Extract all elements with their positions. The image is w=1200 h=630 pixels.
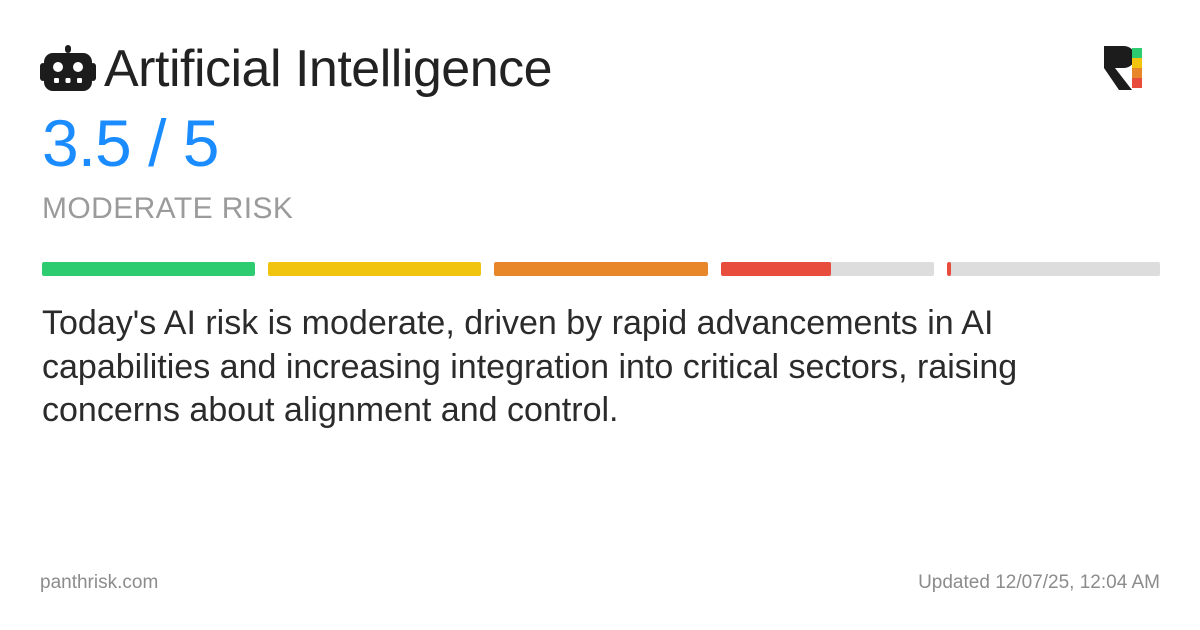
header: Artificial Intelligence (40, 38, 1160, 100)
updated-timestamp: Updated 12/07/25, 12:04 AM (918, 572, 1160, 594)
panthrisk-r-logo (1102, 44, 1146, 92)
segment-3-elevated (494, 262, 707, 276)
risk-gauge (42, 262, 1160, 276)
segment-4-high (721, 262, 934, 276)
segment-2-guarded (268, 262, 481, 276)
site-name: panthrisk.com (40, 572, 158, 594)
risk-level-label: MODERATE RISK (42, 192, 1160, 226)
risk-card: Artificial Intelligence 3.5 / 5 MODERATE… (0, 0, 1200, 630)
risk-description: Today's AI risk is moderate, driven by r… (42, 302, 1132, 433)
segment-1-low (42, 262, 255, 276)
robot-icon (40, 44, 96, 100)
risk-score: 3.5 / 5 (42, 110, 1160, 176)
segment-5-severe (947, 262, 1160, 276)
title-block: Artificial Intelligence (40, 38, 552, 100)
footer: panthrisk.com Updated 12/07/25, 12:04 AM (40, 572, 1160, 594)
page-title: Artificial Intelligence (104, 42, 552, 97)
